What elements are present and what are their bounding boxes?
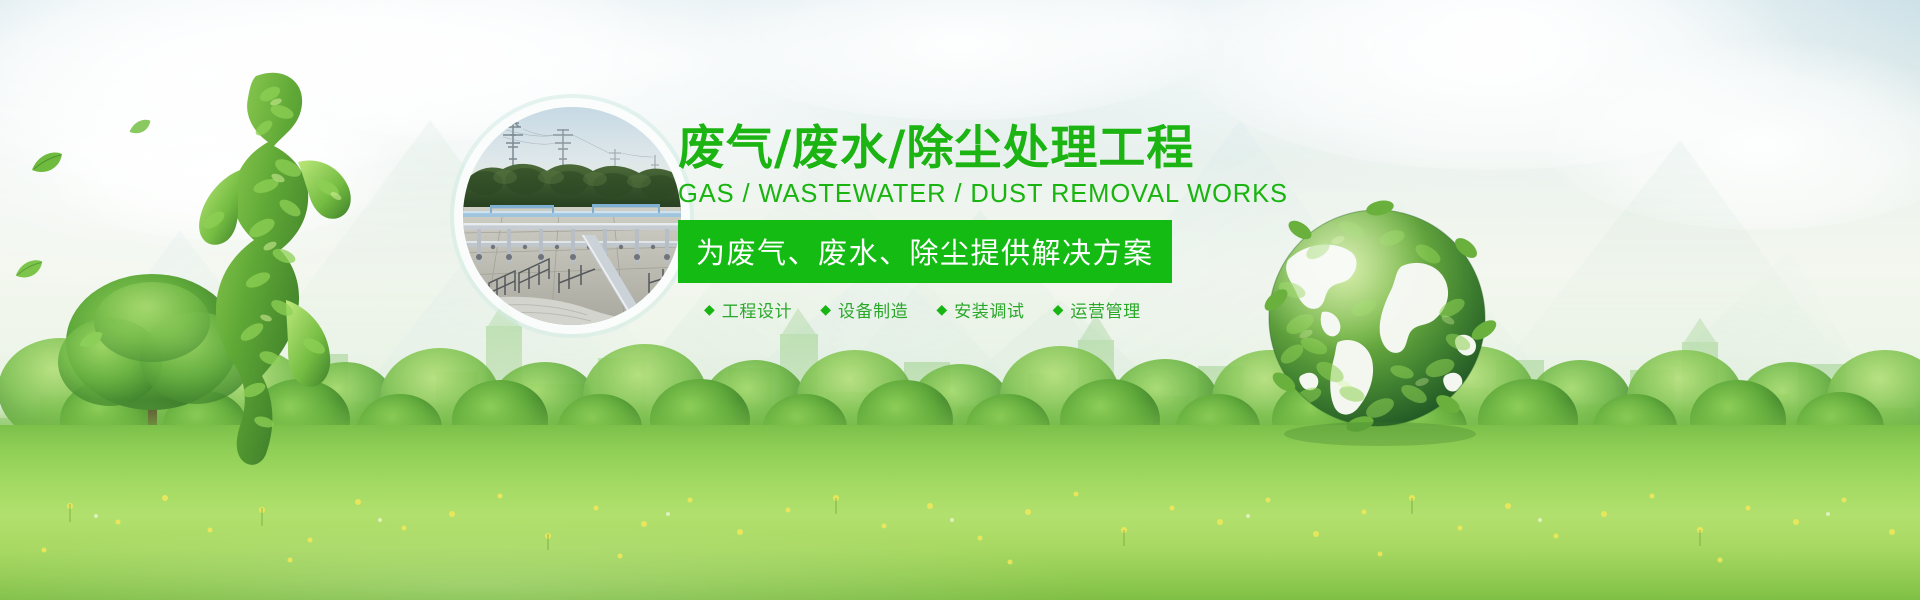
feature-item-2: ◆ 设备制造: [820, 297, 908, 322]
feature-label: 设备制造: [838, 297, 908, 322]
diamond-icon: ◆: [936, 302, 947, 316]
feature-label: 运营管理: [1070, 297, 1140, 322]
eco-engineering-banner: 废气/废水/除尘处理工程 GAS / WASTEWATER / DUST REM…: [0, 0, 1920, 600]
treatment-plant-photo: [463, 107, 681, 325]
page-subtitle: GAS / WASTEWATER / DUST REMOVAL WORKS: [678, 180, 1198, 209]
page-title: 废气/废水/除尘处理工程: [678, 124, 1198, 174]
running-leaf-figure: [178, 50, 368, 470]
feature-label: 安装调试: [954, 297, 1024, 322]
feature-label: 工程设计: [722, 297, 792, 322]
hero-text-block: 废气/废水/除尘处理工程 GAS / WASTEWATER / DUST REM…: [678, 124, 1198, 322]
leafy-green-globe: [1252, 196, 1502, 446]
diamond-icon: ◆: [820, 302, 831, 316]
diamond-icon: ◆: [704, 302, 715, 316]
feature-item-1: ◆ 工程设计: [704, 297, 792, 322]
floating-leaf-2: [14, 258, 44, 281]
floating-leaf-3: [78, 330, 104, 350]
floating-leaf-4: [128, 118, 152, 136]
slogan-badge: 为废气、废水、除尘提供解决方案: [678, 220, 1172, 283]
feature-item-4: ◆ 运营管理: [1053, 297, 1141, 322]
feature-item-3: ◆ 安装调试: [936, 297, 1024, 322]
diamond-icon: ◆: [1053, 302, 1064, 316]
feature-list: ◆ 工程设计 ◆ 设备制造 ◆ 安装调试 ◆ 运营管理: [678, 297, 1198, 322]
floating-leaf-1: [30, 150, 64, 176]
